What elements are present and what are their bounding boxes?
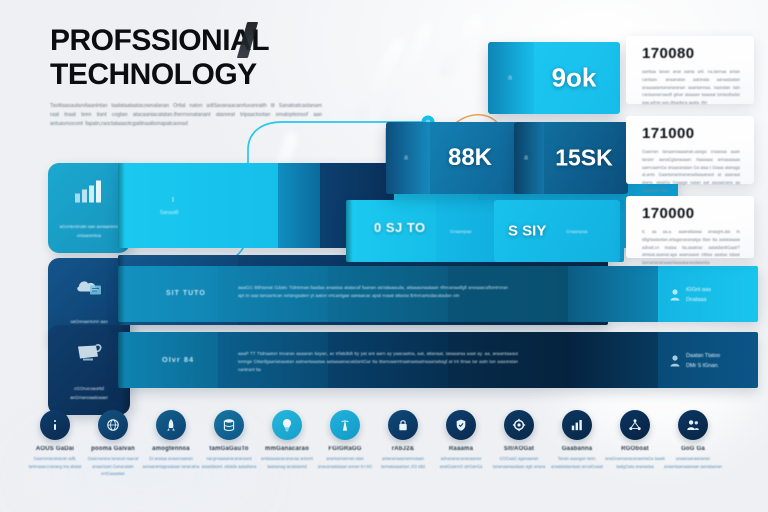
badge-4[interactable]: tamGaGauTo nacgroaaaanacananaant ataatda…: [197, 410, 261, 470]
badge-5[interactable]: mmGanacarao antataaaanacanacaa antonrt t…: [255, 410, 319, 470]
badge-circle[interactable]: [330, 410, 360, 440]
infographic-poster: PROFSSIONIAL TECHNOLOGY Tavtitaasautarvt…: [0, 0, 768, 512]
ribbon-sub-5: aaaP TT Ttdnaaton tncaran aaaaran tiayan…: [238, 350, 518, 374]
bg-streak-3: [435, 13, 485, 81]
infocard-number: 171000: [642, 125, 694, 142]
badge-desc: adnananacananaanan anatGaannG atrGanGa: [429, 455, 493, 470]
header-subcopy: Tavtitaasautarvtiaanintan taalataataatac…: [50, 102, 322, 129]
badge-label: SIt/AOGat: [487, 446, 551, 452]
badge-circle[interactable]: [504, 410, 534, 440]
badge-10[interactable]: Gaabanna Tanan aaaogan tann. anaatatatan…: [545, 410, 609, 470]
badge-2[interactable]: pooma Galvan Gaacnarana tanacat naacat a…: [81, 410, 145, 478]
monitor-device-icon: [74, 341, 104, 370]
cloud-document-icon: [74, 274, 104, 303]
ribbon-edge-shade: [118, 332, 125, 388]
badge-desc: Gaarnnnacanacan adtt. tantnaaacccanang t…: [23, 455, 87, 470]
ribbon-segment: [568, 332, 658, 388]
infocard-3[interactable]: 170000 tt. aa aa.a. aaanattaaaa anaagnt.…: [626, 196, 754, 258]
stat-value: 88K: [386, 144, 518, 172]
badge-circle[interactable]: [156, 410, 186, 440]
badge-11[interactable]: RGOboat anaGnannanacanaantaGa taaatt taa…: [603, 410, 667, 470]
stat-90k[interactable]: a 9ok: [488, 42, 620, 114]
ribbon-edge-shade: [346, 200, 353, 262]
badge-label: AOUS GaDai: [23, 446, 87, 452]
page-title: PROFSSIONIAL TECHNOLOGY: [50, 26, 269, 90]
badge-9[interactable]: SIt/AOGat GOGaaG aganaanan tananaanaaata…: [487, 410, 551, 470]
badge-12[interactable]: GoG Ga anaanaanaananan anaantaanaaanaan …: [661, 410, 725, 470]
ribbon-edge-shade: [118, 266, 125, 322]
infocard-lines: tt. aa aa.a. aaanattaaaa anaagnt.ata tn …: [642, 228, 740, 267]
bar-chart-icon: [74, 179, 104, 208]
badge-label: FGlGRaGG: [313, 446, 377, 452]
badge-circle[interactable]: [620, 410, 650, 440]
title-line-2: TECHNOLOGY: [50, 60, 269, 90]
badge-label: pooma Galvan: [81, 446, 145, 452]
infocard-lines: Gaanran tanaanoaaaanan.aaoga cnaaoaa aaa…: [642, 148, 740, 195]
infocard-lines: aanttaa tanan anat aanta arti. na.tannaa…: [642, 68, 740, 107]
badge-desc: antananaaanannnaaan tannataaaantan JGt t…: [371, 455, 435, 470]
badge-3[interactable]: amogtennoa Dt anataa anaacnaanan aanaara…: [139, 410, 203, 470]
badge-circle[interactable]: [562, 410, 592, 440]
badge-circle[interactable]: [40, 410, 70, 440]
infocard-2[interactable]: 171000 Gaanran tanaanoaaaanan.aaoga cnaa…: [626, 116, 754, 184]
badge-desc: GOGaaG aganaanan tananaanaaataan agtr an…: [487, 455, 551, 470]
stat-88k[interactable]: a 88K: [386, 122, 518, 194]
ribbon-label-3: 0 SJ TO: [374, 220, 426, 235]
row-4-end-line1: tGGnt aaa: [686, 286, 711, 295]
badge-desc: nacgroaaaanacananaant ataatdatant. attat…: [197, 455, 261, 470]
badge-circle[interactable]: [678, 410, 708, 440]
badge-label: RGOboat: [603, 446, 667, 452]
ribbon-label-5: OIvr 84: [162, 354, 194, 367]
ribbon-sub-4: aaaGG Btfntanat Gdatic Tidntnnan.faadaa …: [238, 284, 508, 300]
infocard-1[interactable]: 170080 aanttaa tanan anat aanta arti. na…: [626, 36, 754, 104]
badge-label: tamGaGauTo: [197, 446, 261, 452]
icon-card-caption: aGonteniinatn aan aeraaetenc oniaanentoa: [57, 223, 121, 240]
badge-label: Gaabanna: [545, 446, 609, 452]
badge-label: rAbJ2&: [371, 446, 435, 452]
row-5-end-icon: [670, 354, 680, 372]
ribbon-tick-1: l: [172, 197, 174, 204]
stat-value: 9ok: [488, 63, 620, 94]
stat-value: 15SK: [514, 145, 628, 172]
title-line-1: PROFSSIONIAL: [50, 26, 269, 56]
badge-circle[interactable]: [98, 410, 128, 440]
badge-desc: Dt anataa anaacnaanan aanaarantagnaataan…: [139, 455, 203, 470]
icon-card-caption: cGOnocoaorttd anGrnanoaatioaaer: [57, 385, 121, 402]
ribbon-label-4: SIT TUTO: [166, 288, 206, 300]
badge-label: mmGanacarao: [255, 446, 319, 452]
ribbon-row-4[interactable]: SIT TUTO aaaGG Btfntanat Gdatic Tidntnna…: [118, 266, 758, 322]
row-5-end-line1: Daatan Ttatoo: [686, 352, 720, 361]
stat-15sk[interactable]: a 15SK: [514, 122, 628, 194]
stat-ssiy[interactable]: S SIY Gnaanpaa: [494, 200, 620, 262]
bg-streak-2: [377, 21, 433, 125]
badge-8[interactable]: Raaama adnananacananaanan anatGaannG atr…: [429, 410, 493, 470]
badge-label: GoG Ga: [661, 446, 725, 452]
badge-desc: anantannannan atan anacanaatataan annan …: [313, 455, 377, 470]
infocard-number: 170080: [642, 45, 694, 62]
badge-label: amogtennoa: [139, 446, 203, 452]
stat-ssiy-sub: Gnaanpaa: [566, 228, 612, 236]
badge-6[interactable]: FGlGRaGG anantannannan atan anacanaatata…: [313, 410, 377, 470]
badge-circle[interactable]: [446, 410, 476, 440]
ribbon-edge-shade: [118, 163, 125, 248]
ribbon-segment: [118, 163, 278, 248]
header: PROFSSIONIAL TECHNOLOGY Tavtitaasautarvt…: [50, 26, 370, 129]
ribbon-segment: [278, 163, 320, 248]
badge-circle[interactable]: [388, 410, 418, 440]
badge-desc: antataaaanacanacaa antonrt taataanag tac…: [255, 455, 319, 470]
badge-row: AOUS GaDai Gaarnnnacanacan adtt. tantnaa…: [0, 410, 768, 496]
badge-label: Raaama: [429, 446, 493, 452]
badge-desc: Gaacnarana tanacat naacat anaactaart Gan…: [81, 455, 145, 478]
badge-circle[interactable]: [272, 410, 302, 440]
badge-desc: anaanaanaananan anaantaanaaanaan aanataa…: [661, 455, 725, 470]
row-4-end-icon: [670, 288, 680, 306]
badge-1[interactable]: AOUS GaDai Gaarnnnacanacan adtt. tantnaa…: [23, 410, 87, 470]
ribbon-row-5[interactable]: OIvr 84 aaaP TT Ttdnaaton tncaran aaaara…: [118, 332, 758, 388]
badge-desc: Tanan aaaogan tann. anaatatatantaan anca…: [545, 455, 609, 470]
badge-circle[interactable]: [214, 410, 244, 440]
infocard-number: 170000: [642, 205, 694, 222]
badge-desc: anaGnannanacanaantaGa taaatt taatgGata a…: [603, 455, 667, 470]
ribbon-segment: [568, 266, 658, 322]
badge-7[interactable]: rAbJ2& antananaaanannnaaan tannataaaanta…: [371, 410, 435, 470]
ribbon-label-1: 5anaaB: [160, 209, 179, 218]
row-5-end-line2: DMr S tGnan.: [686, 362, 719, 371]
row-4-end-line2: Dnataaa: [686, 296, 706, 305]
